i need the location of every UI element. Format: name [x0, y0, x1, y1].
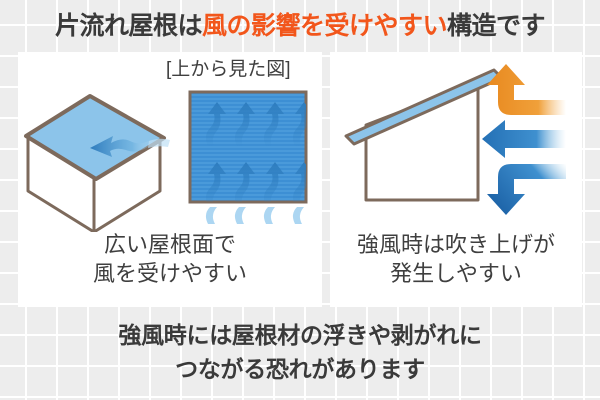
downdraft-arrow — [487, 164, 566, 215]
left-panel-caption: 広い屋根面で 風を受けやすい — [18, 230, 322, 288]
bottom-caption-line2: つながる恐れがあります — [0, 352, 600, 386]
page-title: 片流れ屋根は風の影響を受けやすい構造です — [0, 6, 600, 42]
topview-square — [190, 92, 313, 224]
isometric-house-diagram — [18, 52, 322, 232]
left-panel: [上から見た図] — [18, 52, 322, 307]
wind-inflow-tails — [206, 207, 304, 224]
left-caption-line1: 広い屋根面で — [18, 230, 322, 259]
wind-arrow — [482, 120, 566, 158]
house-wall-side — [366, 82, 478, 200]
title-prefix: 片流れ屋根は — [55, 12, 202, 40]
title-suffix: 構造です — [447, 12, 545, 40]
bottom-caption-line1: 強風時には屋根材の浮きや剥がれに — [0, 318, 600, 352]
right-panel-caption: 強風時は吹き上げが 発生しやすい — [330, 230, 582, 288]
right-caption-line1: 強風時は吹き上げが — [330, 230, 582, 259]
left-caption-line2: 風を受けやすい — [18, 259, 322, 288]
side-view-house-diagram — [330, 52, 582, 232]
house-body — [26, 96, 170, 232]
bottom-caption: 強風時には屋根材の浮きや剥がれに つながる恐れがあります — [0, 318, 600, 386]
title-highlight: 風の影響を受けやすい — [202, 12, 447, 40]
right-caption-line2: 発生しやすい — [330, 259, 582, 288]
uplift-arrow — [487, 64, 566, 115]
right-panel: 強風時は吹き上げが 発生しやすい — [330, 52, 582, 307]
infographic-root: 片流れ屋根は風の影響を受けやすい構造です [上から見た図] — [0, 0, 600, 400]
